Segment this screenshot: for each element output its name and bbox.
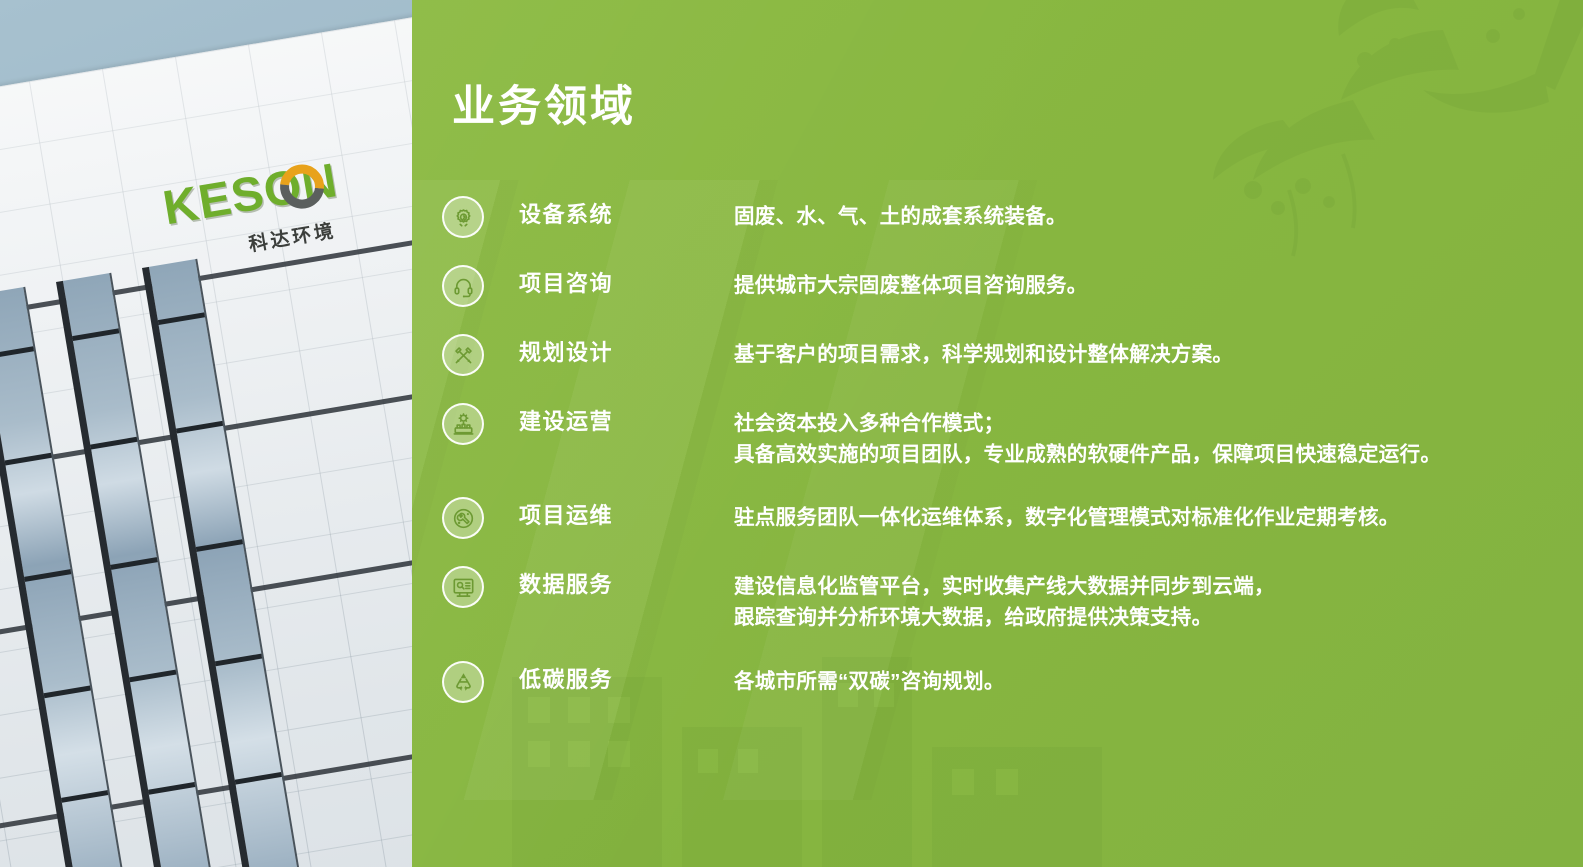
list-item[interactable]: 规划设计 基于客户的项目需求，科学规划和设计整体解决方案。 [442, 333, 1562, 376]
list-item-label: 建设运营 [519, 408, 734, 437]
list-item-label: 项目运维 [519, 502, 734, 531]
construction-operation-icon [442, 403, 484, 445]
building-photo: KESON 科达环境 [0, 0, 412, 867]
list-item[interactable]: 数据服务 建设信息化监管平台，实时收集产线大数据并同步到云端， 跟踪查询并分析环… [442, 565, 1562, 633]
list-item-description: 社会资本投入多种合作模式； 具备高效实施的项目团队，专业成熟的软硬件产品，保障项… [734, 408, 1562, 470]
business-areas-list: 设备系统 固废、水、气、土的成套系统装备。 项目咨询 提供城市大宗固废整体项目咨… [442, 195, 1562, 729]
list-item-label: 设备系统 [519, 201, 734, 230]
slide-root: KESON 科达环境 [0, 0, 1583, 867]
list-item-description: 提供城市大宗固废整体项目咨询服务。 [734, 270, 1562, 301]
gear-icon [442, 196, 484, 238]
data-monitor-icon [442, 566, 484, 608]
maintenance-icon [442, 497, 484, 539]
list-item-label: 项目咨询 [519, 270, 734, 299]
logo-chinese-name: 科达环境 [247, 216, 338, 257]
list-item-description: 固废、水、气、土的成套系统装备。 [734, 201, 1562, 232]
list-item-label: 数据服务 [519, 571, 734, 600]
list-item[interactable]: 项目咨询 提供城市大宗固废整体项目咨询服务。 [442, 264, 1562, 307]
list-item-description: 驻点服务团队一体化运维体系，数字化管理模式对标准化作业定期考核。 [734, 502, 1562, 533]
list-item-label: 低碳服务 [519, 666, 734, 695]
carbon-recycle-icon [442, 661, 484, 703]
list-item-description: 建设信息化监管平台，实时收集产线大数据并同步到云端， 跟踪查询并分析环境大数据，… [734, 571, 1562, 633]
headset-icon [442, 265, 484, 307]
list-item-label: 规划设计 [519, 339, 734, 368]
list-item[interactable]: 项目运维 驻点服务团队一体化运维体系，数字化管理模式对标准化作业定期考核。 [442, 496, 1562, 539]
list-item[interactable]: 设备系统 固废、水、气、土的成套系统装备。 [442, 195, 1562, 238]
drafting-tools-icon [442, 334, 484, 376]
list-item-description: 基于客户的项目需求，科学规划和设计整体解决方案。 [734, 339, 1562, 370]
list-item-description: 各城市所需“双碳”咨询规划。 [734, 666, 1562, 697]
list-item[interactable]: 建设运营 社会资本投入多种合作模式； 具备高效实施的项目团队，专业成熟的软硬件产… [442, 402, 1562, 470]
list-item[interactable]: 低碳服务 各城市所需“双碳”咨询规划。 [442, 660, 1562, 703]
content-panel: 业务领域 设备系统 固废、水、气、土的成套系统装备。 [412, 0, 1583, 867]
page-title: 业务领域 [452, 86, 636, 129]
